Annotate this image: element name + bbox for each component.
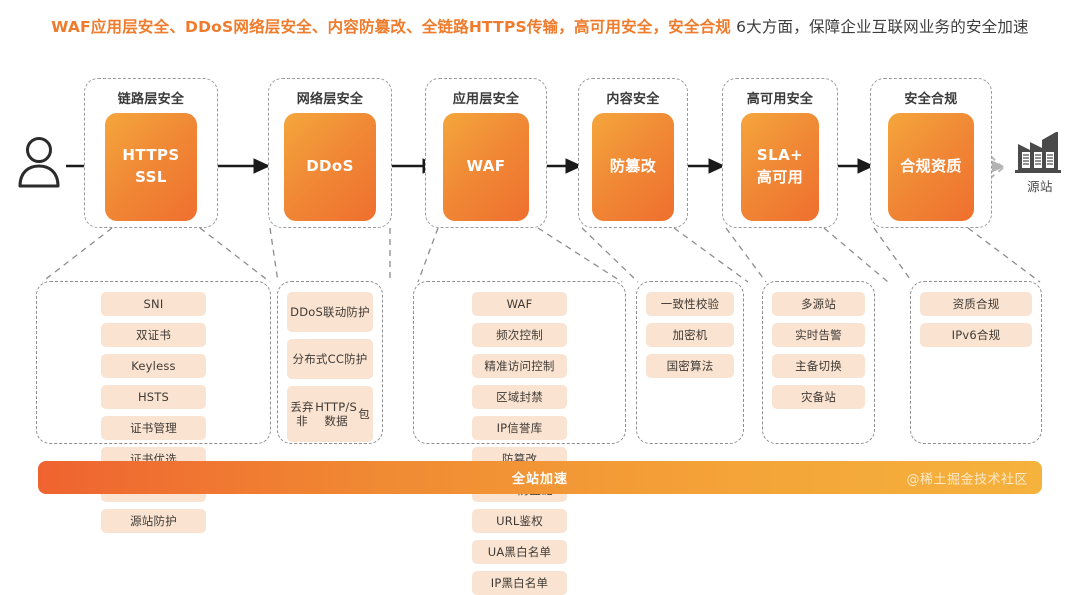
chip-line-1: 防篡改 [610, 156, 656, 178]
tag-item[interactable]: 频次控制 [472, 323, 567, 347]
pillar-label: 高可用安全 [723, 88, 837, 107]
pillar-application-layer[interactable]: 应用层安全 WAF [425, 78, 547, 228]
pillar-compliance[interactable]: 安全合规 合规资质 [870, 78, 992, 228]
user-icon [16, 134, 62, 190]
pillar-label: 链路层安全 [85, 88, 217, 107]
watermark: @稀土掘金技术社区 [906, 468, 1028, 487]
tag-item[interactable]: 证书管理 [101, 416, 206, 440]
tag-item[interactable]: 实时告警 [772, 323, 865, 347]
pillar-chip[interactable]: 防篡改 [592, 113, 674, 221]
tag-group-compliance: 资质合规IPv6合规 [910, 281, 1042, 444]
tag-item[interactable]: 资质合规 [920, 292, 1032, 316]
chip-line-1: SLA+ [757, 145, 803, 167]
pillar-label: 内容安全 [579, 88, 687, 107]
tag-group-application-layer: WAF频次控制精准访问控制区域封禁IP信誉库防篡改Refer防盗链URL鉴权UA… [413, 281, 626, 444]
tag-item[interactable]: 一致性校验 [646, 292, 734, 316]
tag-item[interactable]: 多源站 [772, 292, 865, 316]
pillar-chip[interactable]: SLA+ 高可用 [741, 113, 819, 221]
pillar-chip[interactable]: WAF [443, 113, 529, 221]
bottom-banner-label: 全站加速 [512, 468, 568, 487]
chip-line-1: WAF [467, 156, 506, 178]
chip-line-1: HTTPS [122, 145, 179, 167]
bottom-banner: 全站加速 @稀土掘金技术社区 [38, 461, 1042, 494]
tag-item[interactable]: WAF [472, 292, 567, 316]
chip-line-1: 合规资质 [900, 156, 962, 178]
tag-item[interactable]: 加密机 [646, 323, 734, 347]
tag-item[interactable]: DDoS联动防护 [287, 292, 373, 332]
pillar-network-layer[interactable]: 网络层安全 DDoS [268, 78, 392, 228]
pillar-label: 应用层安全 [426, 88, 546, 107]
pillar-link-layer[interactable]: 链路层安全 HTTPS SSL [84, 78, 218, 228]
tag-group-link-layer: SNI双证书KeylessHSTS证书管理证书优选False Start源站防护 [36, 281, 271, 444]
funnel-connector-group [42, 228, 1040, 282]
pillar-chip[interactable]: HTTPS SSL [105, 113, 197, 221]
pillar-label: 网络层安全 [269, 88, 391, 107]
tag-item[interactable]: Keyless [101, 354, 206, 378]
tag-item[interactable]: 双证书 [101, 323, 206, 347]
tag-item[interactable]: 主备切换 [772, 354, 865, 378]
pillar-chip[interactable]: 合规资质 [888, 113, 974, 221]
tag-group-network-layer: DDoS联动防护分布式CC防护丢弃非HTTP/S数据包 [277, 281, 383, 444]
page-title: WAF应用层安全、DDoS网络层安全、内容防篡改、全链路HTTPS传输，高可用安… [0, 16, 1080, 38]
tag-item[interactable]: IP信誉库 [472, 416, 567, 440]
tag-item[interactable]: HSTS [101, 385, 206, 409]
diagram-stage: WAF应用层安全、DDoS网络层安全、内容防篡改、全链路HTTPS传输，高可用安… [0, 0, 1080, 509]
page-title-rest: 6大方面，保障企业互联网业务的安全加速 [731, 18, 1029, 36]
tag-item[interactable]: UA黑白名单 [472, 540, 567, 564]
pillar-content-security[interactable]: 内容安全 防篡改 [578, 78, 688, 228]
tag-group-content-security: 一致性校验加密机国密算法 [636, 281, 744, 444]
origin-server-label: 源站 [1006, 176, 1074, 195]
tag-item[interactable]: 源站防护 [101, 509, 206, 533]
tag-item[interactable]: 国密算法 [646, 354, 734, 378]
page-title-highlight: WAF应用层安全、DDoS网络层安全、内容防篡改、全链路HTTPS传输，高可用安… [51, 18, 731, 36]
tag-item[interactable]: 精准访问控制 [472, 354, 567, 378]
origin-server-icon [1012, 128, 1068, 174]
tag-item[interactable]: SNI [101, 292, 206, 316]
tag-item[interactable]: 丢弃非HTTP/S数据包 [287, 386, 373, 442]
tag-item[interactable]: URL鉴权 [472, 509, 567, 533]
pillar-label: 安全合规 [871, 88, 991, 107]
pillar-chip[interactable]: DDoS [284, 113, 376, 221]
chip-line-2: 高可用 [757, 167, 803, 189]
tag-item[interactable]: IP黑白名单 [472, 571, 567, 595]
tag-item[interactable]: 区域封禁 [472, 385, 567, 409]
tag-item[interactable]: 灾备站 [772, 385, 865, 409]
chip-line-1: DDoS [306, 156, 354, 178]
tag-item[interactable]: 分布式CC防护 [287, 339, 373, 379]
pillar-high-availability[interactable]: 高可用安全 SLA+ 高可用 [722, 78, 838, 228]
chip-line-2: SSL [135, 167, 167, 189]
tag-group-high-availability: 多源站实时告警主备切换灾备站 [762, 281, 875, 444]
tag-item[interactable]: IPv6合规 [920, 323, 1032, 347]
